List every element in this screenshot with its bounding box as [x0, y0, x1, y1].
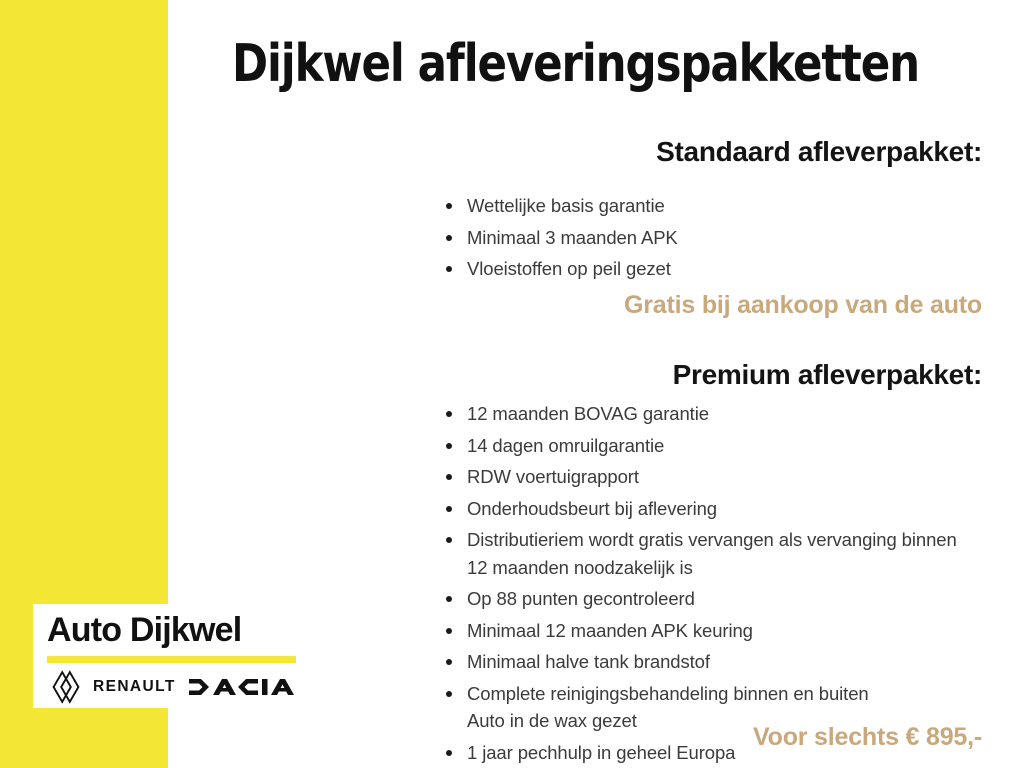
list-item: Vloeistoffen op peil gezet: [440, 255, 980, 283]
list-item: 14 dagen omruilgarantie: [440, 432, 980, 460]
standard-package-free-note: Gratis bij aankoop van de auto: [624, 292, 982, 320]
list-item-label: Onderhoudsbeurt bij aflevering: [467, 498, 717, 519]
dealer-logo: Auto Dijkwel RENAULT: [33, 604, 310, 708]
renault-diamond-icon: [49, 670, 83, 709]
premium-package-list: 12 maanden BOVAG garantie 14 dagen omrui…: [440, 400, 980, 768]
list-item-label: Minimaal halve tank brandstof: [467, 651, 710, 672]
premium-package-heading: Premium afleverpakket:: [673, 360, 982, 391]
renault-wordmark: RENAULT: [93, 678, 176, 696]
list-item: Op 88 punten gecontroleerd: [440, 585, 980, 613]
list-item: 12 maanden BOVAG garantie: [440, 400, 980, 428]
brand-logos: RENAULT: [47, 670, 299, 704]
list-item: Minimaal halve tank brandstof: [440, 648, 980, 676]
list-item: RDW voertuigrapport: [440, 463, 980, 491]
list-item-label: Minimaal 12 maanden APK keuring: [467, 620, 753, 641]
dacia-wordmark-icon: [189, 677, 299, 702]
list-item-label: 12 maanden BOVAG garantie: [467, 403, 709, 424]
page-title: Dijkwel afleveringspakketten: [197, 38, 955, 90]
list-item-label: RDW voertuigrapport: [467, 466, 639, 487]
list-item: Distributieriem wordt gratis vervangen a…: [440, 526, 980, 581]
standard-package-heading: Standaard afleverpakket:: [656, 137, 982, 168]
list-item-label: Complete reinigingsbehandeling binnen en…: [467, 683, 869, 704]
list-item: Wettelijke basis garantie: [440, 192, 980, 220]
list-item-label: Vloeistoffen op peil gezet: [467, 258, 671, 279]
premium-package-price-note: Voor slechts € 895,-: [753, 724, 982, 752]
dealer-name: Auto Dijkwel: [47, 610, 241, 650]
list-item-label: Minimaal 3 maanden APK: [467, 227, 678, 248]
list-item-label: Op 88 punten gecontroleerd: [467, 588, 695, 609]
logo-underline-bar: [47, 656, 296, 663]
list-item: Minimaal 12 maanden APK keuring: [440, 617, 980, 645]
list-item-label: Wettelijke basis garantie: [467, 195, 665, 216]
list-item-label: 14 dagen omruilgarantie: [467, 435, 664, 456]
list-item-label: Distributieriem wordt gratis vervangen a…: [467, 529, 957, 578]
slide-canvas: Dijkwel afleveringspakketten Standaard a…: [0, 0, 1024, 768]
list-item-label: 1 jaar pechhulp in geheel Europa: [467, 742, 735, 763]
standard-package-list: Wettelijke basis garantie Minimaal 3 maa…: [440, 192, 980, 287]
list-item: Minimaal 3 maanden APK: [440, 224, 980, 252]
list-item: Onderhoudsbeurt bij aflevering: [440, 495, 980, 523]
